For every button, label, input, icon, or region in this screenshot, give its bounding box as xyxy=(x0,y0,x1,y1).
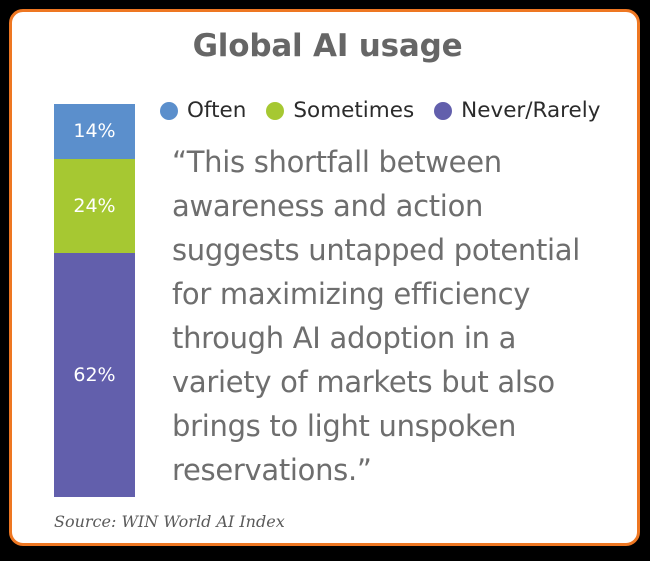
legend-label-often: Often xyxy=(187,100,246,122)
legend-item-often[interactable]: Often xyxy=(160,100,246,122)
bar-segment-often[interactable]: 14% xyxy=(54,104,135,159)
legend-label-sometimes: Sometimes xyxy=(293,100,414,122)
bar-label-never-rarely: 62% xyxy=(73,366,115,385)
circle-icon xyxy=(434,102,452,120)
chart-legend: Often Sometimes Never/Rarely xyxy=(160,96,630,126)
page-title: Global AI usage xyxy=(12,28,643,64)
circle-icon xyxy=(160,102,178,120)
chart-card: Global AI usage Often Sometimes Never/Ra… xyxy=(9,9,640,546)
bar-segment-never-rarely[interactable]: 62% xyxy=(54,253,135,497)
legend-label-never-rarely: Never/Rarely xyxy=(461,100,600,122)
legend-item-sometimes[interactable]: Sometimes xyxy=(266,100,414,122)
stacked-bar-chart: 14% 24% 62% xyxy=(54,104,135,497)
source-caption: Source: WIN World AI Index xyxy=(54,512,285,531)
circle-icon xyxy=(266,102,284,120)
legend-item-never-rarely[interactable]: Never/Rarely xyxy=(434,100,600,122)
bar-segment-sometimes[interactable]: 24% xyxy=(54,159,135,253)
bar-label-sometimes: 24% xyxy=(73,197,115,216)
bar-label-often: 14% xyxy=(73,122,115,141)
pull-quote: “This shortfall between awareness and ac… xyxy=(172,140,612,492)
